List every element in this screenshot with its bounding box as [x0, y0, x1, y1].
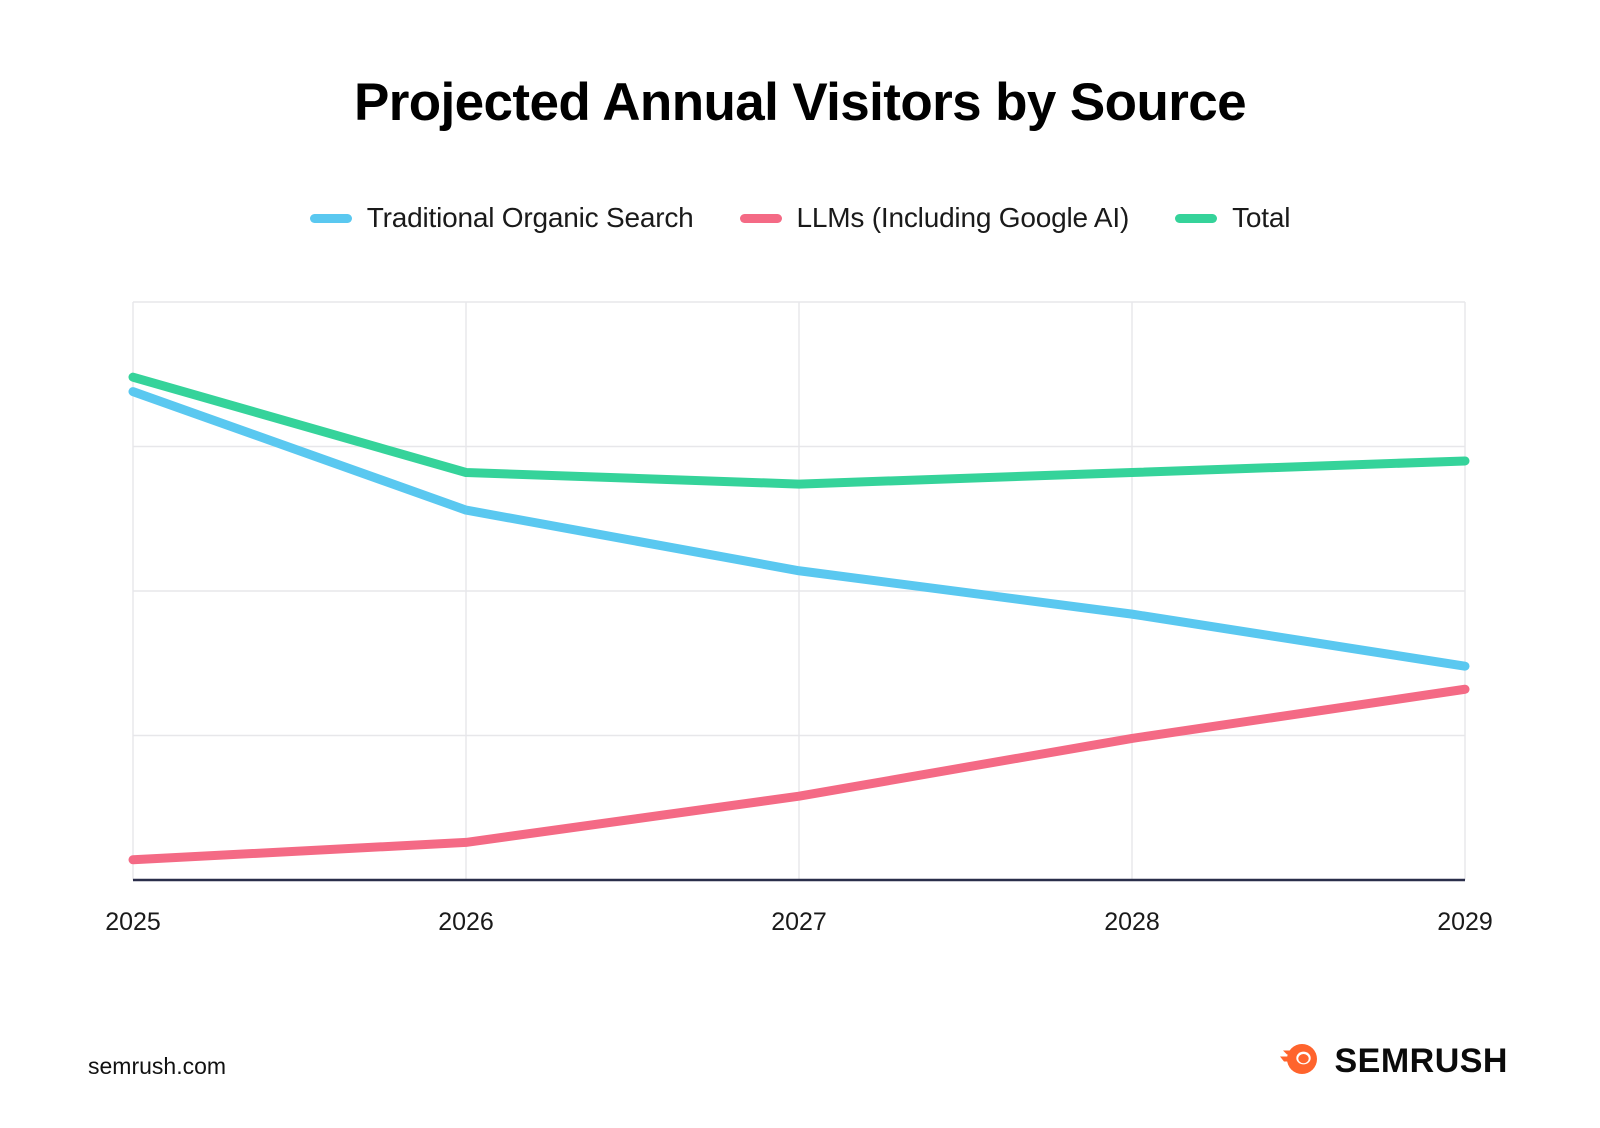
chart-page: Projected Annual Visitors by Source Trad… [0, 0, 1600, 1128]
horizontal-gridlines [133, 302, 1465, 736]
series-line [133, 392, 1465, 667]
plot-area [0, 0, 1600, 1128]
legend-swatch-icon [310, 214, 352, 223]
semrush-wordmark: SEMRUSH [1334, 1042, 1508, 1081]
x-tick-label-2027: 2027 [771, 908, 827, 937]
vertical-gridlines [133, 302, 1465, 880]
series-line [133, 377, 1465, 484]
legend-item-label: LLMs (Including Google AI) [797, 202, 1130, 234]
legend-item-traditional-organic-search[interactable]: Traditional Organic Search [310, 202, 694, 234]
legend-item-label: Traditional Organic Search [367, 202, 694, 234]
x-axis-tick-labels: 2025 2026 2027 2028 2029 [0, 908, 1600, 948]
semrush-comet-icon [1277, 1037, 1321, 1086]
x-tick-label-2025: 2025 [105, 908, 161, 937]
x-tick-label-2029: 2029 [1437, 908, 1493, 937]
legend-swatch-icon [1175, 214, 1217, 223]
legend-swatch-icon [740, 214, 782, 223]
page-title: Projected Annual Visitors by Source [0, 72, 1600, 133]
series-lines [133, 377, 1465, 860]
x-tick-label-2026: 2026 [438, 908, 494, 937]
semrush-brand: SEMRUSH [1277, 1037, 1508, 1086]
footer-source-url: semrush.com [88, 1053, 226, 1080]
legend-item-llms[interactable]: LLMs (Including Google AI) [740, 202, 1130, 234]
x-tick-label-2028: 2028 [1104, 908, 1160, 937]
chart-legend: Traditional Organic Search LLMs (Includi… [0, 202, 1600, 234]
legend-item-label: Total [1232, 202, 1290, 234]
legend-item-total[interactable]: Total [1175, 202, 1290, 234]
line-chart-svg [0, 0, 1600, 1128]
series-line [133, 689, 1465, 860]
